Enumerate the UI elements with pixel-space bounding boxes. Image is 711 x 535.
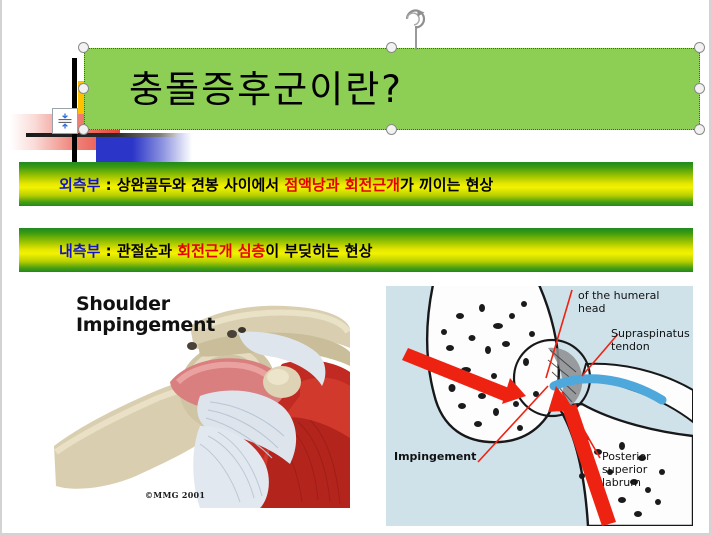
label-humeral-head: of the humeralhead [578, 290, 659, 316]
bar2-run-4: 이 부딪히는 현상 [265, 242, 372, 260]
bar1-run-1: : [100, 176, 116, 194]
resize-handle-bottom-left[interactable] [78, 124, 89, 135]
text-bar-outer[interactable]: 외측부 : 상완골두와 견봉 사이에서 점액낭과 회전근개가 끼이는 현상 [19, 162, 693, 206]
label-impingement: Impingement [394, 451, 476, 464]
bar2-run-0: 내측부 [59, 242, 100, 260]
impingement-diagram[interactable]: of the humeralhead Supraspinatustendon I… [386, 286, 693, 526]
shrink-text-on-overflow-icon[interactable] [52, 108, 78, 134]
text-bar-inner[interactable]: 내측부 : 관절순과 회전근개 심층이 부딪히는 현상 [19, 228, 693, 272]
page-title: 충돌증후군이란? [129, 71, 403, 108]
bar2-run-1: : [100, 242, 116, 260]
slide-edge-left [0, 0, 2, 535]
text-bar-inner-content: 내측부 : 관절순과 회전근개 심층이 부딪히는 현상 [59, 240, 372, 261]
bar2-run-2: 관절순과 [117, 242, 177, 260]
left-image-title-line2: Impingement [76, 314, 215, 336]
label-supraspinatus-tendon: Supraspinatustendon [611, 328, 690, 354]
left-image-title-line1: Shoulder [76, 293, 170, 315]
slide-canvas: 충돌증후군이란? 외측부 : 상완골두와 견봉 사이에서 점액낭과 회전근개가 … [0, 0, 711, 535]
resize-handle-top-right[interactable] [694, 42, 705, 53]
resize-handle-top-left[interactable] [78, 42, 89, 53]
rotate-icon[interactable] [402, 6, 428, 30]
shoulder-impingement-illustration[interactable]: ShoulderImpingement ©MMG 2001 [50, 286, 350, 508]
resize-handle-middle-right[interactable] [694, 83, 705, 94]
deco-horizontal-line [26, 133, 178, 137]
bar1-run-4: 가 끼이는 현상 [400, 176, 493, 194]
bar1-run-3: 점액낭과 회전근개 [284, 176, 400, 194]
resize-handle-middle-left[interactable] [78, 83, 89, 94]
left-image-title: ShoulderImpingement [76, 294, 215, 337]
text-bar-outer-content: 외측부 : 상완골두와 견봉 사이에서 점액낭과 회전근개가 끼이는 현상 [59, 174, 493, 195]
resize-handle-top-center[interactable] [386, 42, 397, 53]
resize-handle-bottom-center[interactable] [386, 124, 397, 135]
bar1-run-0: 외측부 [59, 176, 100, 194]
title-placeholder[interactable]: 충돌증후군이란? [84, 48, 700, 130]
bar2-run-3: 회전근개 심층 [177, 242, 265, 260]
resize-handle-bottom-right[interactable] [694, 124, 705, 135]
label-posterior-superior-labrum: Posteriorsuperiorlabrum [602, 451, 651, 490]
left-image-copyright: ©MMG 2001 [145, 490, 205, 500]
bar1-run-2: 상완골두와 견봉 사이에서 [117, 176, 284, 194]
